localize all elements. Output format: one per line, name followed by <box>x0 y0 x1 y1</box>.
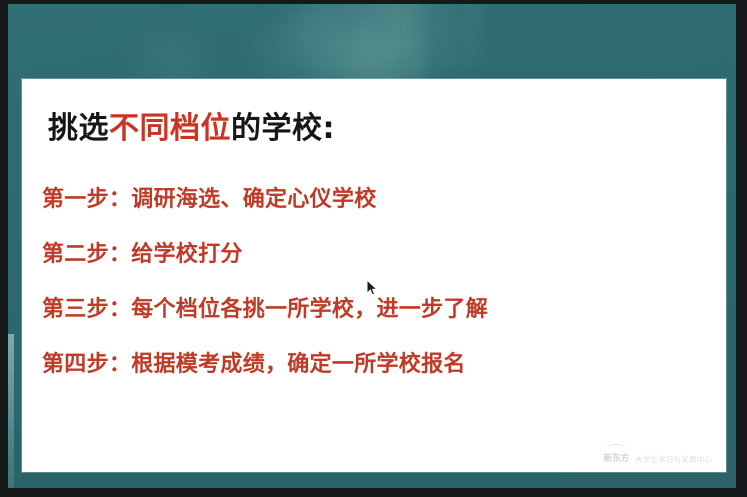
window-frame-top <box>0 0 747 4</box>
background-decor-stripe <box>436 4 458 74</box>
background-decor-stripe <box>460 4 482 66</box>
brand-subtitle: 大学生学习与发展中心 <box>635 456 712 465</box>
step-item-2: 第二步：给学校打分 <box>42 227 702 282</box>
swoosh-icon <box>605 444 627 451</box>
window-frame-bottom <box>0 488 747 497</box>
window-frame-right <box>736 0 747 497</box>
background-edge-highlight <box>8 334 14 488</box>
step-item-1: 第一步：调研海选、确定心仪学校 <box>42 172 702 227</box>
slide-content-card: 挑选不同档位的学校: 第一步：调研海选、确定心仪学校 第二步：给学校打分 第三步… <box>22 79 726 472</box>
slide-screen: 挑选不同档位的学校: 第一步：调研海选、确定心仪学校 第二步：给学校打分 第三步… <box>0 0 747 497</box>
background-decor-blob <box>258 14 378 84</box>
brand-watermark: 新东方 大学生学习与发展中心 <box>603 444 712 464</box>
background-decor-stripe <box>388 4 410 54</box>
brand-logo: 新东方 <box>603 444 629 464</box>
page-title-suffix: 的学校: <box>231 111 335 146</box>
steps-list: 第一步：调研海选、确定心仪学校 第二步：给学校打分 第三步：每个档位各挑一所学校… <box>42 172 702 392</box>
page-title-highlight: 不同档位 <box>109 111 231 146</box>
page-title: 挑选不同档位的学校: <box>48 103 335 147</box>
page-title-prefix: 挑选 <box>48 111 109 146</box>
step-item-4: 第四步：根据模考成绩，确定一所学校报名 <box>42 337 702 392</box>
brand-name: 新东方 <box>603 454 629 464</box>
step-item-3: 第三步：每个档位各挑一所学校，进一步了解 <box>42 282 702 337</box>
window-frame-left <box>0 0 8 497</box>
background-decor-stripe <box>408 4 430 84</box>
